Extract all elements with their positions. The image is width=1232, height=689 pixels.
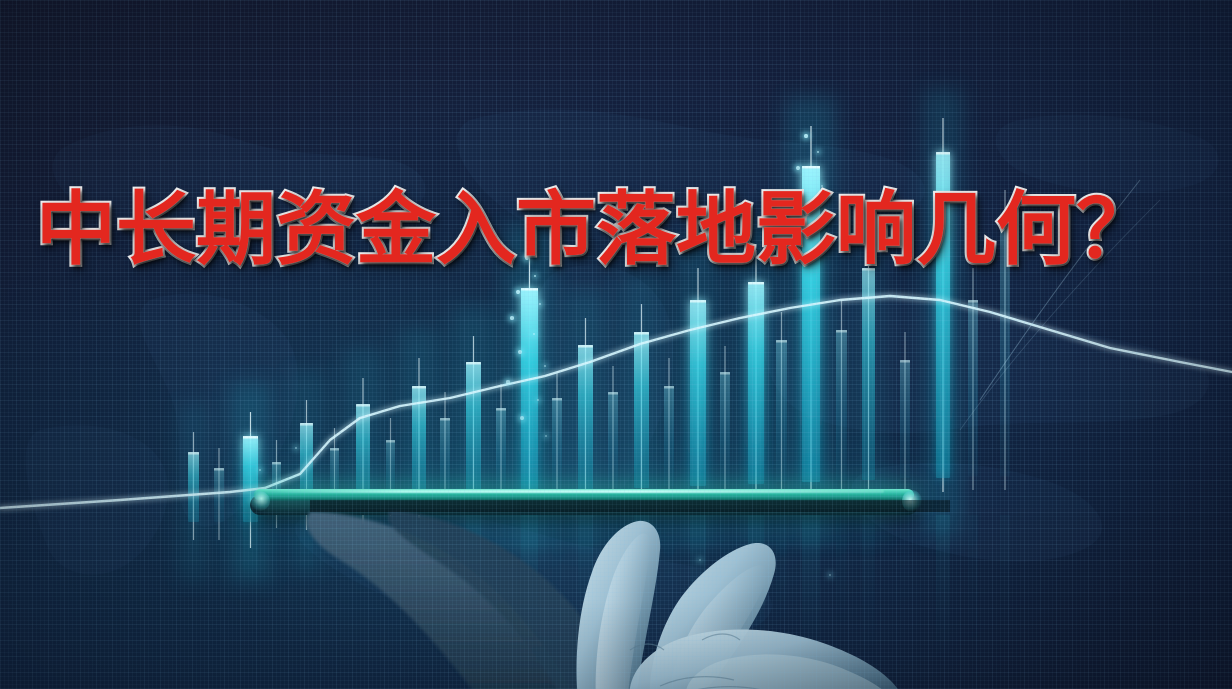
banner-image: 中长期资金入市落地影响几何？ 中长期资金入市落地影响几何？ bbox=[0, 0, 1232, 689]
vignette bbox=[0, 0, 1232, 689]
